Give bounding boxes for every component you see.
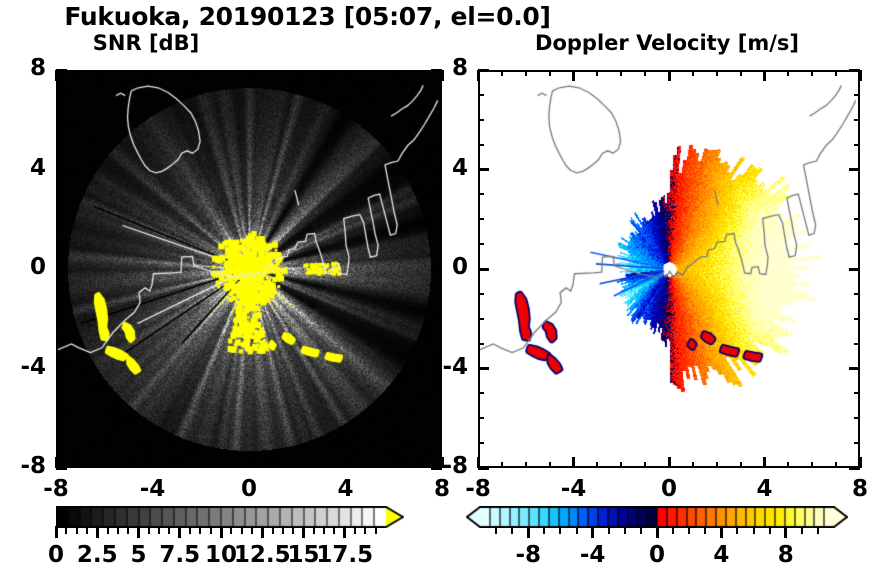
y-major-tick <box>478 69 489 72</box>
x-minor-tick <box>127 462 129 468</box>
y-major-tick <box>56 467 67 470</box>
x-minor-tick <box>644 462 646 468</box>
y-major-tick <box>849 367 860 370</box>
y-minor-tick <box>56 94 62 96</box>
colorbar-major-tick <box>720 526 723 538</box>
x-minor-tick <box>692 70 694 76</box>
colorbar-minor-tick <box>753 526 755 534</box>
x-tick-label: -8 <box>26 476 86 502</box>
x-tick-label: -4 <box>123 476 183 502</box>
colorbar-minor-tick <box>86 526 88 534</box>
x-minor-tick <box>811 462 813 468</box>
x-minor-tick <box>369 70 371 76</box>
y-minor-tick <box>478 442 484 444</box>
x-minor-tick <box>716 462 718 468</box>
colorbar-minor-tick <box>511 526 513 534</box>
y-minor-tick <box>478 94 484 96</box>
y-minor-tick <box>436 442 442 444</box>
y-major-tick <box>56 69 67 72</box>
x-minor-tick <box>787 70 789 76</box>
doppler-field-canvas <box>480 72 858 466</box>
y-minor-tick <box>56 417 62 419</box>
x-minor-tick <box>811 70 813 76</box>
y-tick-label: -4 <box>0 354 46 380</box>
x-minor-tick <box>740 462 742 468</box>
y-minor-tick <box>854 119 860 121</box>
colorbar-minor-tick <box>272 526 274 534</box>
x-minor-tick <box>501 462 503 468</box>
x-major-tick <box>151 457 154 468</box>
x-minor-tick <box>393 462 395 468</box>
y-major-tick <box>56 268 67 271</box>
x-minor-tick <box>787 462 789 468</box>
colorbar-major-tick <box>784 526 787 538</box>
y-minor-tick <box>436 119 442 121</box>
x-minor-tick <box>644 70 646 76</box>
x-minor-tick <box>501 70 503 76</box>
y-minor-tick <box>436 94 442 96</box>
y-minor-tick <box>56 218 62 220</box>
colorbar-minor-tick <box>107 526 109 534</box>
x-minor-tick <box>620 462 622 468</box>
x-minor-tick <box>103 462 105 468</box>
colorbar-minor-tick <box>817 526 819 534</box>
x-major-tick <box>859 70 862 81</box>
colorbar-minor-tick <box>672 526 674 534</box>
colorbar-doppler-canvas <box>466 506 848 528</box>
colorbar-minor-tick <box>364 526 366 534</box>
x-major-tick <box>344 457 347 468</box>
y-minor-tick <box>854 193 860 195</box>
x-minor-tick <box>272 70 274 76</box>
colorbar-minor-tick <box>375 526 377 534</box>
x-minor-tick <box>417 70 419 76</box>
y-minor-tick <box>436 243 442 245</box>
y-minor-tick <box>854 343 860 345</box>
colorbar-major-tick <box>261 526 264 538</box>
y-minor-tick <box>56 193 62 195</box>
y-major-tick <box>849 467 860 470</box>
x-minor-tick <box>692 462 694 468</box>
x-minor-tick <box>740 70 742 76</box>
x-major-tick <box>763 457 766 468</box>
colorbar-minor-tick <box>640 526 642 534</box>
y-minor-tick <box>56 119 62 121</box>
x-tick-label: -8 <box>448 476 508 502</box>
x-major-tick <box>248 70 251 81</box>
y-minor-tick <box>56 343 62 345</box>
y-minor-tick <box>478 144 484 146</box>
colorbar-minor-tick <box>241 526 243 534</box>
colorbar-minor-tick <box>801 526 803 534</box>
y-minor-tick <box>436 318 442 320</box>
x-minor-tick <box>549 70 551 76</box>
x-minor-tick <box>272 462 274 468</box>
plot-snr[interactable] <box>56 70 442 468</box>
x-minor-tick <box>200 70 202 76</box>
y-minor-tick <box>854 218 860 220</box>
x-major-tick <box>668 70 671 81</box>
colorbar-doppler[interactable] <box>466 506 848 528</box>
x-minor-tick <box>320 462 322 468</box>
y-major-tick <box>56 168 67 171</box>
colorbar-minor-tick <box>769 526 771 534</box>
y-minor-tick <box>56 392 62 394</box>
x-minor-tick <box>525 462 527 468</box>
y-tick-label: 0 <box>0 254 46 280</box>
colorbar-major-tick <box>178 526 181 538</box>
x-minor-tick <box>296 462 298 468</box>
colorbar-minor-tick <box>543 526 545 534</box>
colorbar-tick-label: 8 <box>746 542 826 568</box>
colorbar-minor-tick <box>313 526 315 534</box>
y-minor-tick <box>854 318 860 320</box>
x-minor-tick <box>79 462 81 468</box>
colorbar-minor-tick <box>148 526 150 534</box>
colorbar-major-tick <box>527 526 530 538</box>
colorbar-minor-tick <box>127 526 129 534</box>
x-major-tick <box>572 70 575 81</box>
y-minor-tick <box>436 392 442 394</box>
colorbar-minor-tick <box>117 526 119 534</box>
y-major-tick <box>478 168 489 171</box>
y-minor-tick <box>56 318 62 320</box>
colorbar-minor-tick <box>199 526 201 534</box>
y-major-tick <box>849 69 860 72</box>
colorbar-major-tick <box>55 526 58 538</box>
y-minor-tick <box>478 193 484 195</box>
y-minor-tick <box>436 193 442 195</box>
y-minor-tick <box>436 293 442 295</box>
x-minor-tick <box>716 70 718 76</box>
colorbar-minor-tick <box>189 526 191 534</box>
colorbar-minor-tick <box>76 526 78 534</box>
y-tick-label: -8 <box>420 453 468 479</box>
colorbar-snr-canvas <box>56 506 404 528</box>
colorbar-minor-tick <box>168 526 170 534</box>
x-minor-tick <box>127 70 129 76</box>
y-tick-label: -8 <box>0 453 46 479</box>
colorbar-minor-tick <box>282 526 284 534</box>
y-minor-tick <box>854 442 860 444</box>
y-minor-tick <box>56 293 62 295</box>
colorbar-major-tick <box>591 526 594 538</box>
colorbar-minor-tick <box>559 526 561 534</box>
colorbar-minor-tick <box>704 526 706 534</box>
x-minor-tick <box>224 70 226 76</box>
plot-doppler[interactable] <box>478 70 860 468</box>
x-tick-label: 0 <box>639 476 699 502</box>
colorbar-tick-label: 17.5 <box>305 542 385 568</box>
x-minor-tick <box>393 70 395 76</box>
x-minor-tick <box>369 462 371 468</box>
x-tick-label: 4 <box>316 476 376 502</box>
y-tick-label: 4 <box>420 155 468 181</box>
y-tick-label: 8 <box>420 55 468 81</box>
x-minor-tick <box>176 462 178 468</box>
colorbar-snr[interactable] <box>56 506 404 528</box>
y-major-tick <box>849 168 860 171</box>
x-minor-tick <box>417 462 419 468</box>
y-minor-tick <box>436 144 442 146</box>
y-tick-label: 0 <box>420 254 468 280</box>
y-major-tick <box>478 467 489 470</box>
y-minor-tick <box>478 119 484 121</box>
y-minor-tick <box>56 442 62 444</box>
x-major-tick <box>477 70 480 81</box>
y-minor-tick <box>854 293 860 295</box>
y-minor-tick <box>478 293 484 295</box>
x-minor-tick <box>79 70 81 76</box>
y-minor-tick <box>478 218 484 220</box>
colorbar-minor-tick <box>624 526 626 534</box>
colorbar-major-tick <box>220 526 223 538</box>
snr-field-canvas <box>58 72 440 466</box>
x-minor-tick <box>224 462 226 468</box>
y-minor-tick <box>854 243 860 245</box>
colorbar-minor-tick <box>323 526 325 534</box>
x-major-tick <box>668 457 671 468</box>
panel-title-snr: SNR [dB] <box>56 31 236 55</box>
y-major-tick <box>56 367 67 370</box>
y-minor-tick <box>854 417 860 419</box>
x-minor-tick <box>549 462 551 468</box>
colorbar-minor-tick <box>210 526 212 534</box>
colorbar-minor-tick <box>736 526 738 534</box>
y-minor-tick <box>436 343 442 345</box>
y-major-tick <box>478 268 489 271</box>
colorbar-minor-tick <box>230 526 232 534</box>
x-tick-label: -4 <box>544 476 604 502</box>
y-minor-tick <box>478 417 484 419</box>
x-minor-tick <box>103 70 105 76</box>
colorbar-major-tick <box>302 526 305 538</box>
colorbar-major-tick <box>343 526 346 538</box>
x-minor-tick <box>176 70 178 76</box>
y-tick-label: 8 <box>0 55 46 81</box>
colorbar-minor-tick <box>251 526 253 534</box>
x-minor-tick <box>596 462 598 468</box>
x-minor-tick <box>835 70 837 76</box>
x-minor-tick <box>200 462 202 468</box>
y-tick-label: 4 <box>0 155 46 181</box>
y-major-tick <box>849 268 860 271</box>
y-minor-tick <box>854 392 860 394</box>
y-minor-tick <box>478 318 484 320</box>
y-minor-tick <box>478 343 484 345</box>
x-minor-tick <box>320 70 322 76</box>
colorbar-minor-tick <box>608 526 610 534</box>
colorbar-minor-tick <box>688 526 690 534</box>
colorbar-minor-tick <box>576 526 578 534</box>
x-major-tick <box>344 70 347 81</box>
x-minor-tick <box>296 70 298 76</box>
x-tick-label: 4 <box>735 476 795 502</box>
x-minor-tick <box>525 70 527 76</box>
x-minor-tick <box>620 70 622 76</box>
y-minor-tick <box>56 243 62 245</box>
x-major-tick <box>55 70 58 81</box>
colorbar-minor-tick <box>354 526 356 534</box>
y-minor-tick <box>478 243 484 245</box>
y-minor-tick <box>478 392 484 394</box>
x-tick-label: 0 <box>219 476 279 502</box>
colorbar-major-tick <box>96 526 99 538</box>
y-major-tick <box>478 367 489 370</box>
colorbar-minor-tick <box>495 526 497 534</box>
x-major-tick <box>572 457 575 468</box>
y-tick-label: -4 <box>420 354 468 380</box>
colorbar-minor-tick <box>292 526 294 534</box>
figure-title: Fukuoka, 20190123 [05:07, el=0.0] <box>0 2 615 31</box>
colorbar-minor-tick <box>65 526 67 534</box>
x-minor-tick <box>596 70 598 76</box>
y-minor-tick <box>854 94 860 96</box>
y-minor-tick <box>436 218 442 220</box>
x-major-tick <box>763 70 766 81</box>
y-minor-tick <box>56 144 62 146</box>
colorbar-minor-tick <box>333 526 335 534</box>
colorbar-major-tick <box>137 526 140 538</box>
y-minor-tick <box>854 144 860 146</box>
colorbar-major-tick <box>656 526 659 538</box>
x-tick-label: 8 <box>830 476 870 502</box>
y-minor-tick <box>436 417 442 419</box>
x-minor-tick <box>835 462 837 468</box>
x-major-tick <box>151 70 154 81</box>
x-major-tick <box>248 457 251 468</box>
panel-title-doppler: Doppler Velocity [m/s] <box>478 31 856 55</box>
colorbar-minor-tick <box>158 526 160 534</box>
